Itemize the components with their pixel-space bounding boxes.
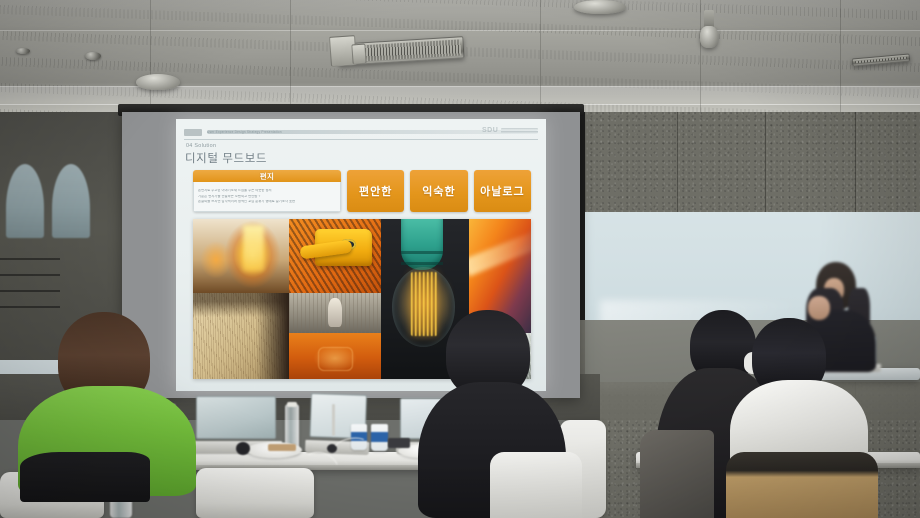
- ceiling-vent-damper: [351, 44, 366, 65]
- keyword-bullet-3: 손글씨를 쓰시면 감각적이며 정적인 교감 분위기 형태로 일기조각 표현: [198, 200, 336, 204]
- ceiling-tile-line-2: [290, 0, 291, 118]
- ceiling-seam-1: [0, 30, 920, 31]
- moodboard-tile-rotary-phone: [289, 219, 381, 293]
- draped-coat-grey: [640, 430, 714, 518]
- ceiling-speaker-icon: [136, 74, 180, 90]
- keyword-card-letter-title: 편지: [193, 170, 341, 182]
- rust-ring: [318, 347, 353, 371]
- logo-wordmark: [501, 128, 538, 134]
- laptop-1-screen: [196, 396, 276, 439]
- ceiling-speaker-icon-2: [574, 0, 626, 14]
- slide-title: 디지털 무드보드: [185, 150, 267, 166]
- attendee-center-chairback: [490, 452, 582, 518]
- paper-cup-2-band: [371, 432, 388, 442]
- ceiling-band-2: [0, 86, 920, 104]
- presenter-hand: [808, 296, 830, 320]
- sepia-figure: [328, 298, 343, 327]
- keyword-card-letter-body: 손편지로 주고받 이야기소재 느낌을 주는 따뜻한 정서 기분은 편지가를 전달…: [193, 182, 341, 212]
- keyword-card-letter: 편지 손편지로 주고받 이야기소재 느낌을 주는 따뜻한 정서 기분은 편지가를…: [193, 170, 341, 212]
- attendee-hoodie-tan-coat: [726, 452, 878, 518]
- sprinkler-icon-2: [85, 52, 101, 60]
- bulb-socket-ring-1: [401, 251, 443, 254]
- moodboard-tile-sepia-photo: [289, 293, 381, 333]
- moodboard-tile-rust-texture: [289, 333, 381, 379]
- desk-snack-1: [268, 444, 296, 451]
- moodboard-tile-old-letters: [193, 293, 289, 379]
- ceiling-tile-line-4: [700, 0, 701, 118]
- left-wall-shelf-4: [0, 306, 60, 308]
- projector-head: [700, 26, 718, 48]
- slide-divider: [184, 139, 538, 140]
- ceiling-slot-vent-grille: [855, 57, 907, 64]
- left-wall-shelf-2: [0, 274, 60, 276]
- water-bottle-3-cap: [287, 402, 297, 407]
- keyword-card-familiar: 익숙한: [410, 170, 467, 212]
- ceiling-tile-line-3: [540, 0, 541, 118]
- desk-puck-black: [236, 442, 250, 455]
- bulb-filament: [411, 272, 437, 336]
- office-chair-center[interactable]: [196, 468, 314, 518]
- ceiling-band-1: [0, 0, 920, 30]
- light-streak: [469, 230, 531, 277]
- ceiling-tile-line-1: [150, 0, 151, 118]
- desk-stylus: [332, 404, 335, 436]
- keyword-card-comfortable: 편안한: [347, 170, 404, 212]
- ceiling-tile-line-5: [840, 0, 841, 118]
- left-wall-shelf-3: [0, 290, 60, 292]
- keyword-bullet-2: 기분은 편지가를 전달하는 오랜되고 편안함 ?: [198, 195, 336, 199]
- slide-eyebrow: 04 Solution: [186, 143, 216, 149]
- keyword-card-analog: 아날로그: [474, 170, 531, 212]
- keyword-row: 편지 손편지로 주고받 이야기소재 느낌을 주는 따뜻한 정서 기분은 편지가를…: [193, 170, 531, 212]
- left-wall-shelf-1: [0, 258, 60, 260]
- attendee-green-dark-underlayer: [20, 452, 150, 502]
- classroom-photo: User Experience Design Strategy Presenta…: [0, 0, 920, 518]
- slide-header-tag: [184, 129, 202, 136]
- sprinkler-icon: [16, 48, 30, 54]
- ceiling: [0, 0, 920, 118]
- logo-mark-text: SDU: [482, 127, 498, 134]
- keyword-bullet-1: 손편지로 주고받 이야기소재 느낌을 주는 따뜻한 정서: [198, 189, 336, 193]
- lamp-glow-shape: [243, 225, 264, 271]
- desk-remote: [388, 438, 410, 448]
- moodboard-tile-warm-glow: [193, 219, 289, 293]
- slide-logo: SDU: [482, 125, 538, 136]
- paper-cup-2: [371, 424, 388, 451]
- letters-shadow: [256, 293, 289, 379]
